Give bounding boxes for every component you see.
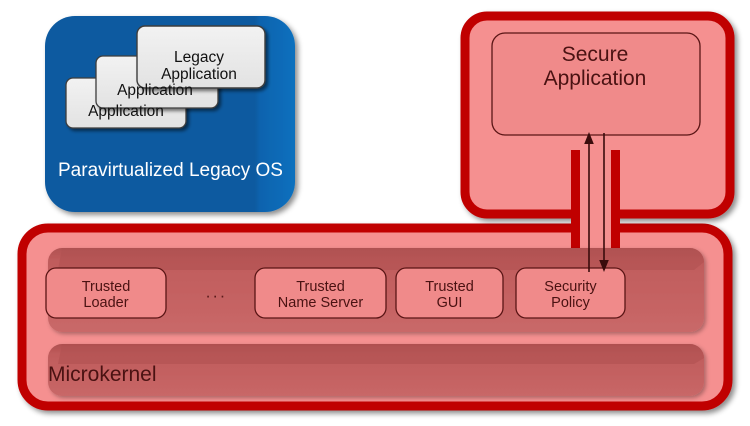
secure-channel-neck: [575, 150, 616, 250]
diagram-shapes: [0, 0, 750, 426]
trusted-service-box-trusted-name-server[interactable]: [255, 268, 386, 318]
trusted-service-box-trusted-gui[interactable]: [396, 268, 503, 318]
microkernel-bar: [48, 344, 704, 396]
trusted-service-box-security-policy[interactable]: [516, 268, 625, 318]
architecture-diagram: Application Application Legacy Applicati…: [0, 0, 750, 426]
trusted-service-box-trusted-loader[interactable]: [46, 268, 166, 318]
secure-application-box: [492, 33, 700, 135]
legacy-application-card-front: [137, 26, 265, 88]
